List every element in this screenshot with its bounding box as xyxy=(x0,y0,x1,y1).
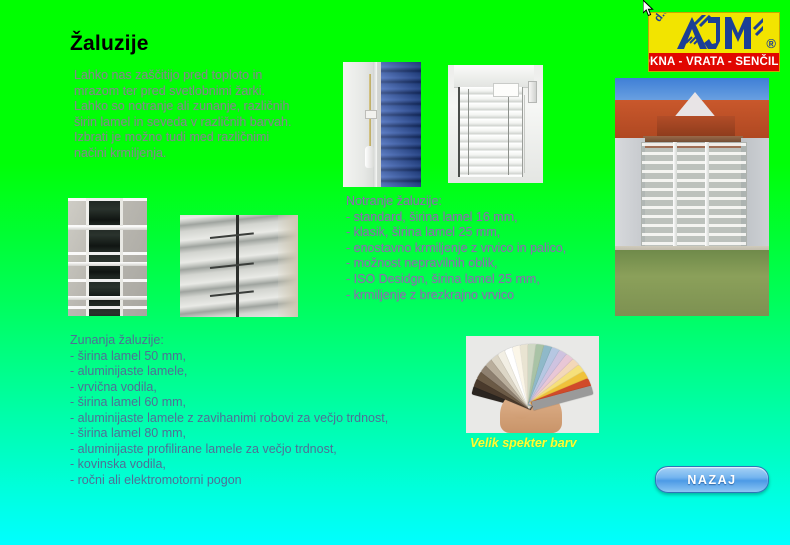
interior-blinds-list: Notranje žaluzije: - standard, širina la… xyxy=(346,194,566,303)
ajm-logo[interactable]: d.o.o. ® xyxy=(648,12,780,72)
intro-line: širin lamel in seveda v različnih barvah… xyxy=(74,115,324,131)
logo-tagline-bar: OKNA - VRATA - SENČILA xyxy=(649,53,779,71)
ajm-wordmark-icon xyxy=(675,15,763,51)
intro-line: mrazom ter pred svetlobnimi žarki. xyxy=(74,84,324,100)
photo-content xyxy=(615,78,769,316)
list-item: - ISO Desidgn, širina lamel 25 mm, xyxy=(346,272,566,288)
cord-clip xyxy=(365,110,377,119)
slat-sheen xyxy=(381,62,421,187)
list-item: - standard, širina lamel 16 mm, xyxy=(346,210,566,226)
facade-rail xyxy=(68,296,147,300)
photo-content xyxy=(466,336,599,433)
list-heading: Zunanja žaluzije: xyxy=(70,333,388,349)
list-item: - enostavno krmiljenje z vrvico in palic… xyxy=(346,241,566,257)
page-title: Žaluzije xyxy=(70,32,149,56)
wall-right xyxy=(278,215,298,317)
interior-blind-blue-photo xyxy=(343,62,421,187)
photo-content xyxy=(180,215,298,317)
nazaj-button-label: NAZAJ xyxy=(687,473,736,487)
mouse-cursor-icon xyxy=(643,0,655,18)
list-item: - krmiljenje z brezkrajno vrvico xyxy=(346,288,566,304)
list-item: - kovinska vodila, xyxy=(70,457,388,473)
photo-content xyxy=(343,62,421,187)
ladder-cord-right xyxy=(508,89,509,175)
list-item: - možnost nepravilnih oblik, xyxy=(346,256,566,272)
list-item: - klasik, širina lamel 25 mm, xyxy=(346,225,566,241)
intro-line: Izbrati je možno tudi med različnimi xyxy=(74,130,324,146)
window-frame-edge xyxy=(373,62,377,187)
interior-blind-white-photo xyxy=(448,65,543,183)
mullion xyxy=(705,142,709,252)
exterior-blinds-list: Zunanja žaluzije: - širina lamel 50 mm, … xyxy=(70,333,388,488)
intro-line: Lahko nas zaščitijo pred toploto in xyxy=(74,68,324,84)
list-item: - aluminijaste lamele z zavihanimi robov… xyxy=(70,411,388,427)
list-item: - aluminijaste lamele, xyxy=(70,364,388,380)
exterior-louvre-facade-photo xyxy=(68,198,147,316)
facade-rail xyxy=(68,226,147,230)
list-item: - širina lamel 60 mm, xyxy=(70,395,388,411)
side-cord xyxy=(524,95,525,173)
lawn xyxy=(615,250,769,316)
valance xyxy=(493,83,519,97)
list-item: - ročni ali elektromotorni pogon xyxy=(70,473,388,489)
intro-line: Lahko so notranje ali zunanje, različnih xyxy=(74,99,324,115)
slide-canvas: Žaluzije Lahko nas zaščitijo pred toplot… xyxy=(0,0,790,545)
nazaj-back-button[interactable]: NAZAJ xyxy=(655,466,769,493)
ladder-cord-left xyxy=(468,89,469,175)
list-heading: Notranje žaluzije: xyxy=(346,194,566,210)
roof-lower xyxy=(657,116,735,136)
facade-rail xyxy=(68,262,147,266)
list-item: - vrvična vodila, xyxy=(70,380,388,396)
colour-sample-fan-photo xyxy=(466,336,599,433)
tilt-wand xyxy=(365,146,374,168)
house-with-exterior-blinds-photo xyxy=(615,78,769,316)
intro-paragraph: Lahko nas zaščitijo pred toploto in mraz… xyxy=(74,68,324,161)
door-handle xyxy=(528,81,537,103)
intro-line: načini krmiljenja. xyxy=(74,146,324,162)
list-item: - širina lamel 80 mm, xyxy=(70,426,388,442)
photo-content xyxy=(68,198,147,316)
conservatory-glazing-with-blinds xyxy=(641,142,747,254)
exterior-louvre-angled-photo xyxy=(180,215,298,317)
colour-swatch-fan xyxy=(470,338,596,402)
colour-fan-caption: Velik spekter barv xyxy=(470,436,577,450)
mullion xyxy=(673,142,677,252)
logo-tagline: OKNA - VRATA - SENČILA xyxy=(648,56,780,68)
registered-trademark-icon: ® xyxy=(766,36,776,51)
list-item: - aluminijaste profilirane lamele za več… xyxy=(70,442,388,458)
photo-content xyxy=(448,65,543,183)
list-item: - širina lamel 50 mm, xyxy=(70,349,388,365)
